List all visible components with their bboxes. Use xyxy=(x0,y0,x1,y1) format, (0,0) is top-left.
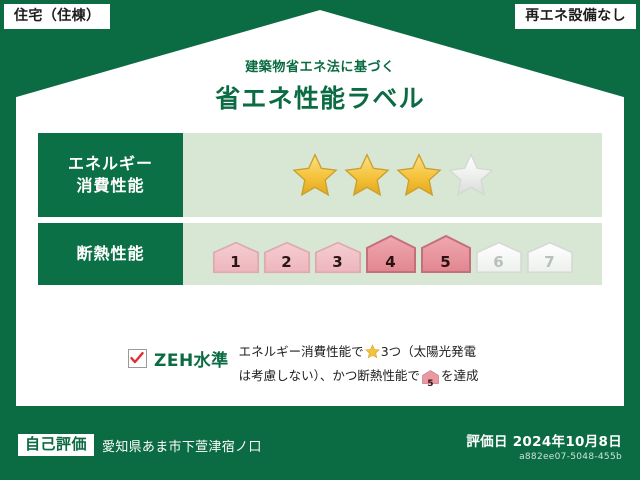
grade-badge: 7 xyxy=(526,241,574,274)
energy-label-line1: エネルギー xyxy=(68,153,153,175)
energy-performance-row: エネルギー 消費性能 xyxy=(38,133,602,217)
star-filled-icon xyxy=(292,152,338,198)
energy-performance-label: エネルギー 消費性能 xyxy=(38,133,183,217)
insulation-grade-scale: 1234567 xyxy=(183,223,602,285)
grade-value: 6 xyxy=(475,255,523,270)
star-row xyxy=(292,152,494,198)
zeh-description-line1: エネルギー消費性能で 3つ（太陽光発電 xyxy=(239,342,479,366)
footer-left-group: 自己評価 愛知県あま市下萱津宿ノ口 xyxy=(18,434,262,456)
energy-label-line2: 消費性能 xyxy=(76,175,144,197)
zeh-description-line2: は考慮しない）、かつ断熱性能で 5 を達成 xyxy=(239,366,479,391)
zeh-checkbox[interactable] xyxy=(128,349,147,368)
inline-star-icon xyxy=(365,344,380,366)
renewable-equipment-tag: 再エネ設備なし xyxy=(515,4,636,29)
zeh-description: エネルギー消費性能で 3つ（太陽光発電 は考慮しない）、かつ断熱性能で 5 を達… xyxy=(239,341,479,390)
title-subtitle: 建築物省エネ法に基づく xyxy=(0,56,640,75)
energy-performance-label: 住宅（住棟） 再エネ設備なし 建築物省エネ法に基づく 省エネ性能ラベル エネルギ… xyxy=(0,0,640,480)
label-footer: 自己評価 愛知県あま市下萱津宿ノ口 評価日 2024年10月8日 a882ee0… xyxy=(0,408,640,480)
grade-badge-row: 1234567 xyxy=(212,234,574,274)
grade-value: 3 xyxy=(314,255,362,270)
zeh-desc-text-b: 3つ（太陽光発電 xyxy=(381,344,476,359)
star-filled-icon xyxy=(396,152,442,198)
grade-value: 7 xyxy=(526,255,574,270)
label-title-block: 建築物省エネ法に基づく 省エネ性能ラベル xyxy=(0,56,640,115)
grade-badge: 5 xyxy=(420,234,472,274)
grade-value: 2 xyxy=(263,255,311,270)
grade-badge: 6 xyxy=(475,241,523,274)
insulation-performance-label: 断熱性能 xyxy=(38,223,183,285)
star-filled-icon xyxy=(344,152,390,198)
building-type-tag: 住宅（住棟） xyxy=(4,4,110,29)
zeh-desc-text-d: を達成 xyxy=(441,368,479,383)
star-empty-icon xyxy=(448,152,494,198)
evaluation-date: 評価日 2024年10月8日 xyxy=(466,434,622,450)
grade-badge: 4 xyxy=(365,234,417,274)
footer-right-group: 評価日 2024年10月8日 a882ee07-5048-455b xyxy=(466,434,622,462)
grade-badge: 3 xyxy=(314,241,362,274)
insulation-performance-row: 断熱性能 1234567 xyxy=(38,223,602,285)
energy-star-rating xyxy=(183,133,602,217)
zeh-standard-row: ZEH水準 エネルギー消費性能で 3つ（太陽光発電 は考慮しない）、かつ断熱性能… xyxy=(128,341,478,390)
grade-badge: 2 xyxy=(263,241,311,274)
performance-panels: エネルギー 消費性能 断熱性能 1234567 xyxy=(38,133,602,291)
inline-grade-value: 5 xyxy=(422,380,439,389)
zeh-desc-text-a: エネルギー消費性能で xyxy=(239,344,364,359)
insulation-label-text: 断熱性能 xyxy=(76,243,144,265)
inline-grade-badge: 5 xyxy=(422,370,439,391)
evaluation-id: a882ee07-5048-455b xyxy=(466,452,622,462)
property-address: 愛知県あま市下萱津宿ノ口 xyxy=(102,436,262,455)
zeh-check-group: ZEH水準 xyxy=(128,341,229,371)
grade-value: 4 xyxy=(365,255,417,270)
page-title: 省エネ性能ラベル xyxy=(0,79,640,115)
zeh-desc-text-c: は考慮しない）、かつ断熱性能で xyxy=(239,368,420,383)
self-evaluation-badge: 自己評価 xyxy=(18,434,94,456)
grade-value: 5 xyxy=(420,255,472,270)
zeh-label: ZEH水準 xyxy=(154,346,229,371)
check-icon xyxy=(130,351,144,365)
grade-value: 1 xyxy=(212,255,260,270)
grade-badge: 1 xyxy=(212,241,260,274)
